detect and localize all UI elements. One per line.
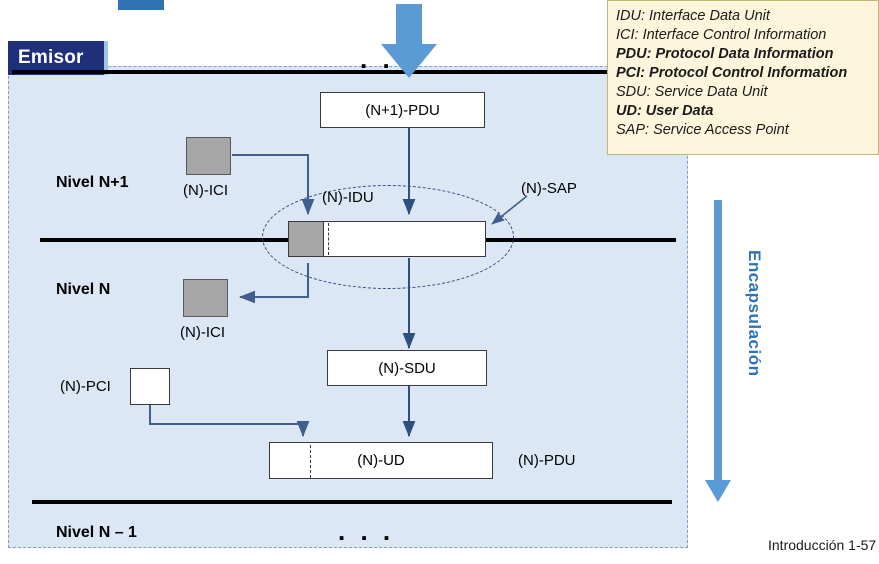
legend-item-pci: PCI: Protocol Control Information: [616, 64, 870, 83]
incoming-flow-arrow-shaft: [396, 4, 422, 46]
block-idu-data-part: [324, 221, 486, 257]
incoming-flow-arrow-head: [381, 44, 437, 78]
block-idu-divider: [328, 223, 329, 255]
encapsulation-arrow-shaft: [714, 200, 722, 482]
label-pci: (N)-PCI: [60, 378, 111, 395]
encapsulation-arrow-head: [705, 480, 731, 502]
legend-box: IDU: Interface Data Unit ICI: Interface …: [607, 0, 879, 155]
box-ud: (N)-UD: [269, 442, 493, 479]
layer-line-bottom: [32, 500, 672, 504]
layer-label-n: Nivel N: [56, 281, 110, 299]
legend-item-sdu: SDU: Service Data Unit: [616, 83, 870, 102]
label-idu: (N)-IDU: [322, 189, 374, 206]
layer-label-n-minus-1: Nivel N – 1: [56, 524, 137, 542]
label-sap: (N)-SAP: [521, 180, 577, 197]
legend-item-sap: SAP: Service Access Point: [616, 121, 870, 140]
block-ici-lower: [183, 279, 228, 317]
block-idu-ici-part: [288, 221, 324, 257]
layer-label-n-plus-1: Nivel N+1: [56, 174, 128, 192]
slide-footer: Introducción 1-57: [768, 537, 876, 553]
legend-item-pdu: PDU: Protocol Data Information: [616, 45, 870, 64]
ellipsis-bottom: . . .: [338, 516, 394, 547]
block-idu: [288, 221, 486, 257]
decorative-blue-mark: [118, 0, 164, 10]
legend-item-ud: UD: User Data: [616, 102, 870, 121]
label-ud: (N)-UD: [357, 452, 404, 469]
box-sdu: (N)-SDU: [327, 350, 487, 386]
box-ud-divider: [310, 445, 311, 478]
encapsulation-label: Encapsulación: [744, 250, 764, 376]
label-pdu-bottom: (N)-PDU: [518, 452, 576, 469]
label-ici-upper: (N)-ICI: [183, 182, 228, 199]
block-pci: [130, 368, 170, 405]
legend-item-idu: IDU: Interface Data Unit: [616, 7, 870, 26]
layer-line-top: [12, 70, 676, 74]
slide-canvas: Emisor . . . . . . Nivel N+1 Nivel N Niv…: [0, 0, 879, 564]
block-ici-upper: [186, 137, 231, 175]
label-ici-lower: (N)-ICI: [180, 324, 225, 341]
legend-item-ici: ICI: Interface Control Information: [616, 26, 870, 45]
box-pdu-top: (N+1)-PDU: [320, 92, 485, 128]
